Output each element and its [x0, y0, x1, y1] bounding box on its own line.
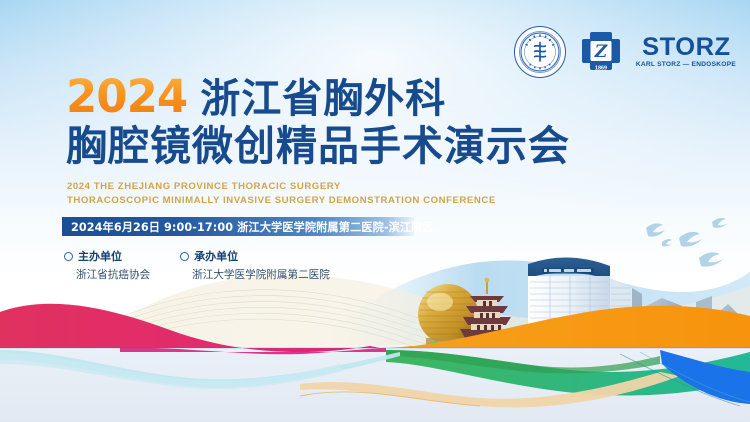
- karl-storz-z-badge-logo: Z 1869: [580, 30, 622, 74]
- english-subtitle-line-1: 2024 THE ZHEJIANG PROVINCE THORACIC SURG…: [67, 180, 496, 194]
- organizer-coorganizer-head: 承办单位: [180, 248, 330, 264]
- organizer-host-head: 主办单位: [64, 248, 150, 264]
- z-badge-icon: Z 1869: [580, 30, 622, 74]
- wave-crimson: [0, 304, 380, 352]
- headline-chinese-line-2: 胸腔镜微创精品手术演示会: [66, 122, 570, 170]
- hospital-seal-logo: [514, 26, 566, 78]
- logo-row: Z 1869 STORZ KARL STORZ — ENDOSKOPE: [514, 26, 736, 78]
- headline-year: 2024: [66, 74, 187, 119]
- english-subtitle: 2024 THE ZHEJIANG PROVINCE THORACIC SURG…: [67, 180, 496, 208]
- headline-line-1: 2024 浙江省胸外科: [66, 74, 570, 120]
- organizer-coorganizer-label: 承办单位: [194, 248, 238, 264]
- svg-text:Z: Z: [594, 42, 608, 62]
- conference-banner: Z 1869 STORZ KARL STORZ — ENDOSKOPE 2024…: [0, 0, 750, 422]
- english-subtitle-line-2: THORACOSCOPIC MINIMALLY INVASIVE SURGERY…: [67, 194, 496, 208]
- date-venue-bar: 2024年6月26日 9:00-17:00 浙江大学医学院附属第二医院-滨江院区: [62, 217, 414, 236]
- foreground-color-waves: [0, 272, 750, 422]
- storz-sub-text: KARL STORZ — ENDOSKOPE: [636, 62, 736, 69]
- headline-chinese-line-1: 浙江省胸外科: [200, 78, 446, 120]
- ring-bullet-icon: [180, 252, 189, 261]
- svg-text:1869: 1869: [595, 65, 607, 71]
- wave-orange: [386, 306, 750, 348]
- storz-wordmark-logo: STORZ KARL STORZ — ENDOSKOPE: [636, 35, 736, 69]
- storz-main-text: STORZ: [642, 35, 731, 60]
- ring-bullet-icon: [64, 252, 73, 261]
- seal-emblem-icon: [520, 32, 560, 72]
- date-venue-text: 2024年6月26日 9:00-17:00 浙江大学医学院附属第二医院-滨江院区: [62, 219, 434, 235]
- headline-block: 2024 浙江省胸外科 胸腔镜微创精品手术演示会: [66, 74, 570, 170]
- organizer-host-label: 主办单位: [78, 248, 122, 264]
